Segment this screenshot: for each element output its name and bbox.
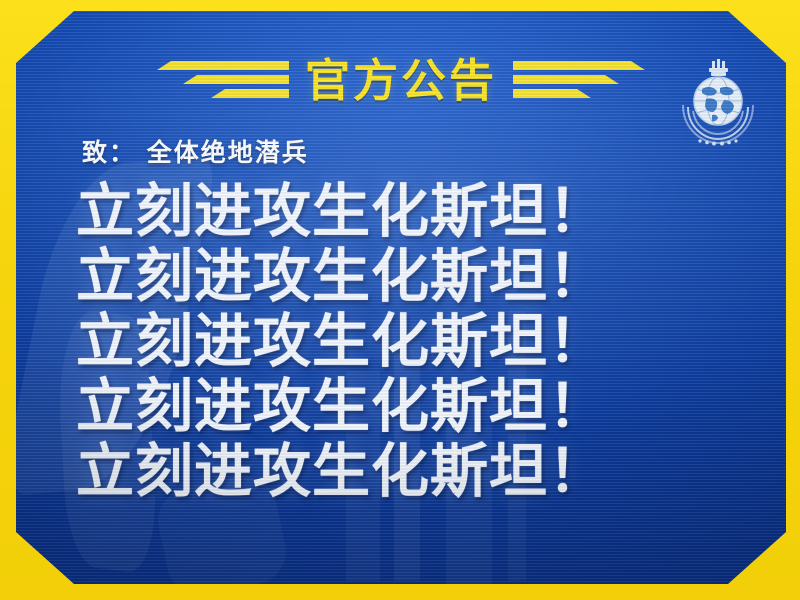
slogan-list: 立刻进攻生化斯坦！ 立刻进攻生化斯坦！ 立刻进攻生化斯坦！ 立刻进攻生化斯坦！ … <box>76 179 746 504</box>
slogan-line: 立刻进攻生化斯坦！ <box>76 439 746 504</box>
addressee-line: 致： 全体绝地潜兵 <box>82 133 309 169</box>
poster-header: 官方公告 <box>16 45 786 115</box>
slogan-line: 立刻进攻生化斯坦！ <box>76 244 746 309</box>
wing-chevron-right-icon <box>513 57 653 103</box>
page-title: 官方公告 <box>305 58 497 103</box>
title-row: 官方公告 <box>16 45 786 115</box>
slogan-line: 立刻进攻生化斯坦！ <box>76 309 746 374</box>
poster-blue-panel: 官方公告 <box>16 11 786 584</box>
announcement-poster: 官方公告 <box>0 0 800 600</box>
wing-chevron-left-icon <box>149 57 289 103</box>
slogan-line: 立刻进攻生化斯坦！ <box>76 179 746 244</box>
super-earth-globe-emblem-icon <box>676 55 760 147</box>
slogan-line: 立刻进攻生化斯坦！ <box>76 374 746 439</box>
